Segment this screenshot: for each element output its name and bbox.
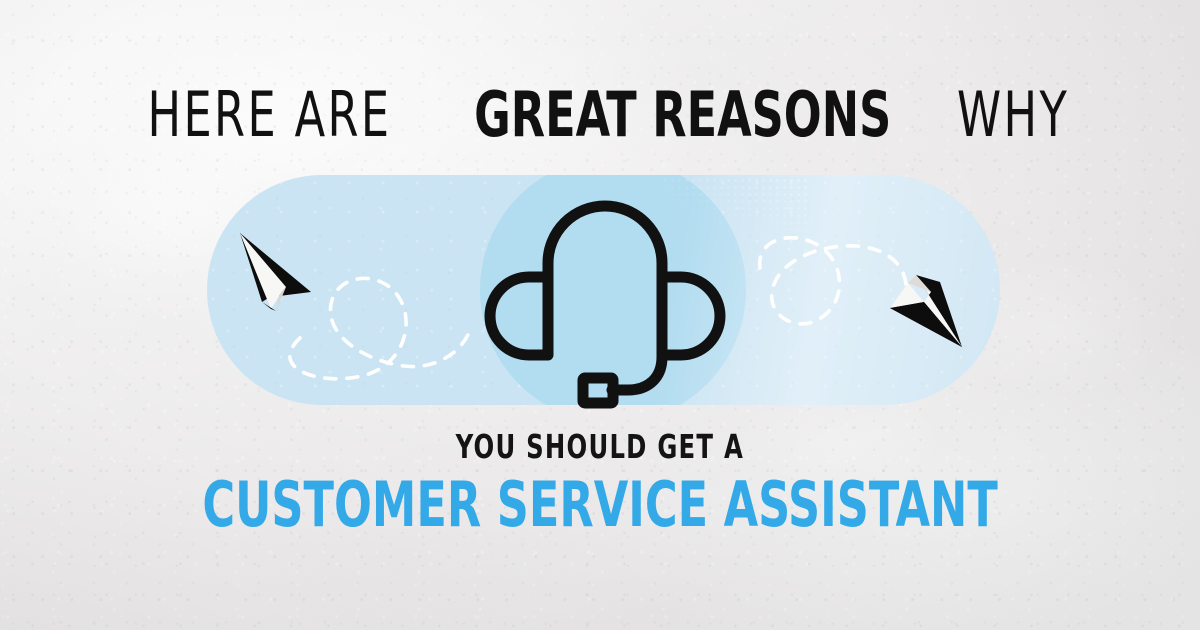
subheading-eyebrow-text: YOU SHOULD GET A (456, 430, 744, 463)
subheading-title: CUSTOMER SERVICE ASSISTANT (0, 474, 1200, 536)
headline-part-bold: GREAT REASONS (474, 84, 891, 146)
headline: HERE ARE GREAT REASONS WHY (0, 84, 1200, 147)
capsule-sheen (207, 175, 1000, 405)
banner-canvas: HERE ARE GREAT REASONS WHY (0, 0, 1200, 630)
headline-part-light-2: WHY (957, 84, 1069, 146)
capsule-band (207, 175, 1000, 405)
subheading-title-text: CUSTOMER SERVICE ASSISTANT (202, 474, 997, 536)
dot-sparkle-cluster (662, 177, 812, 257)
headline-part-light-1: HERE ARE (147, 84, 391, 146)
subheading-eyebrow: YOU SHOULD GET A (0, 430, 1200, 463)
